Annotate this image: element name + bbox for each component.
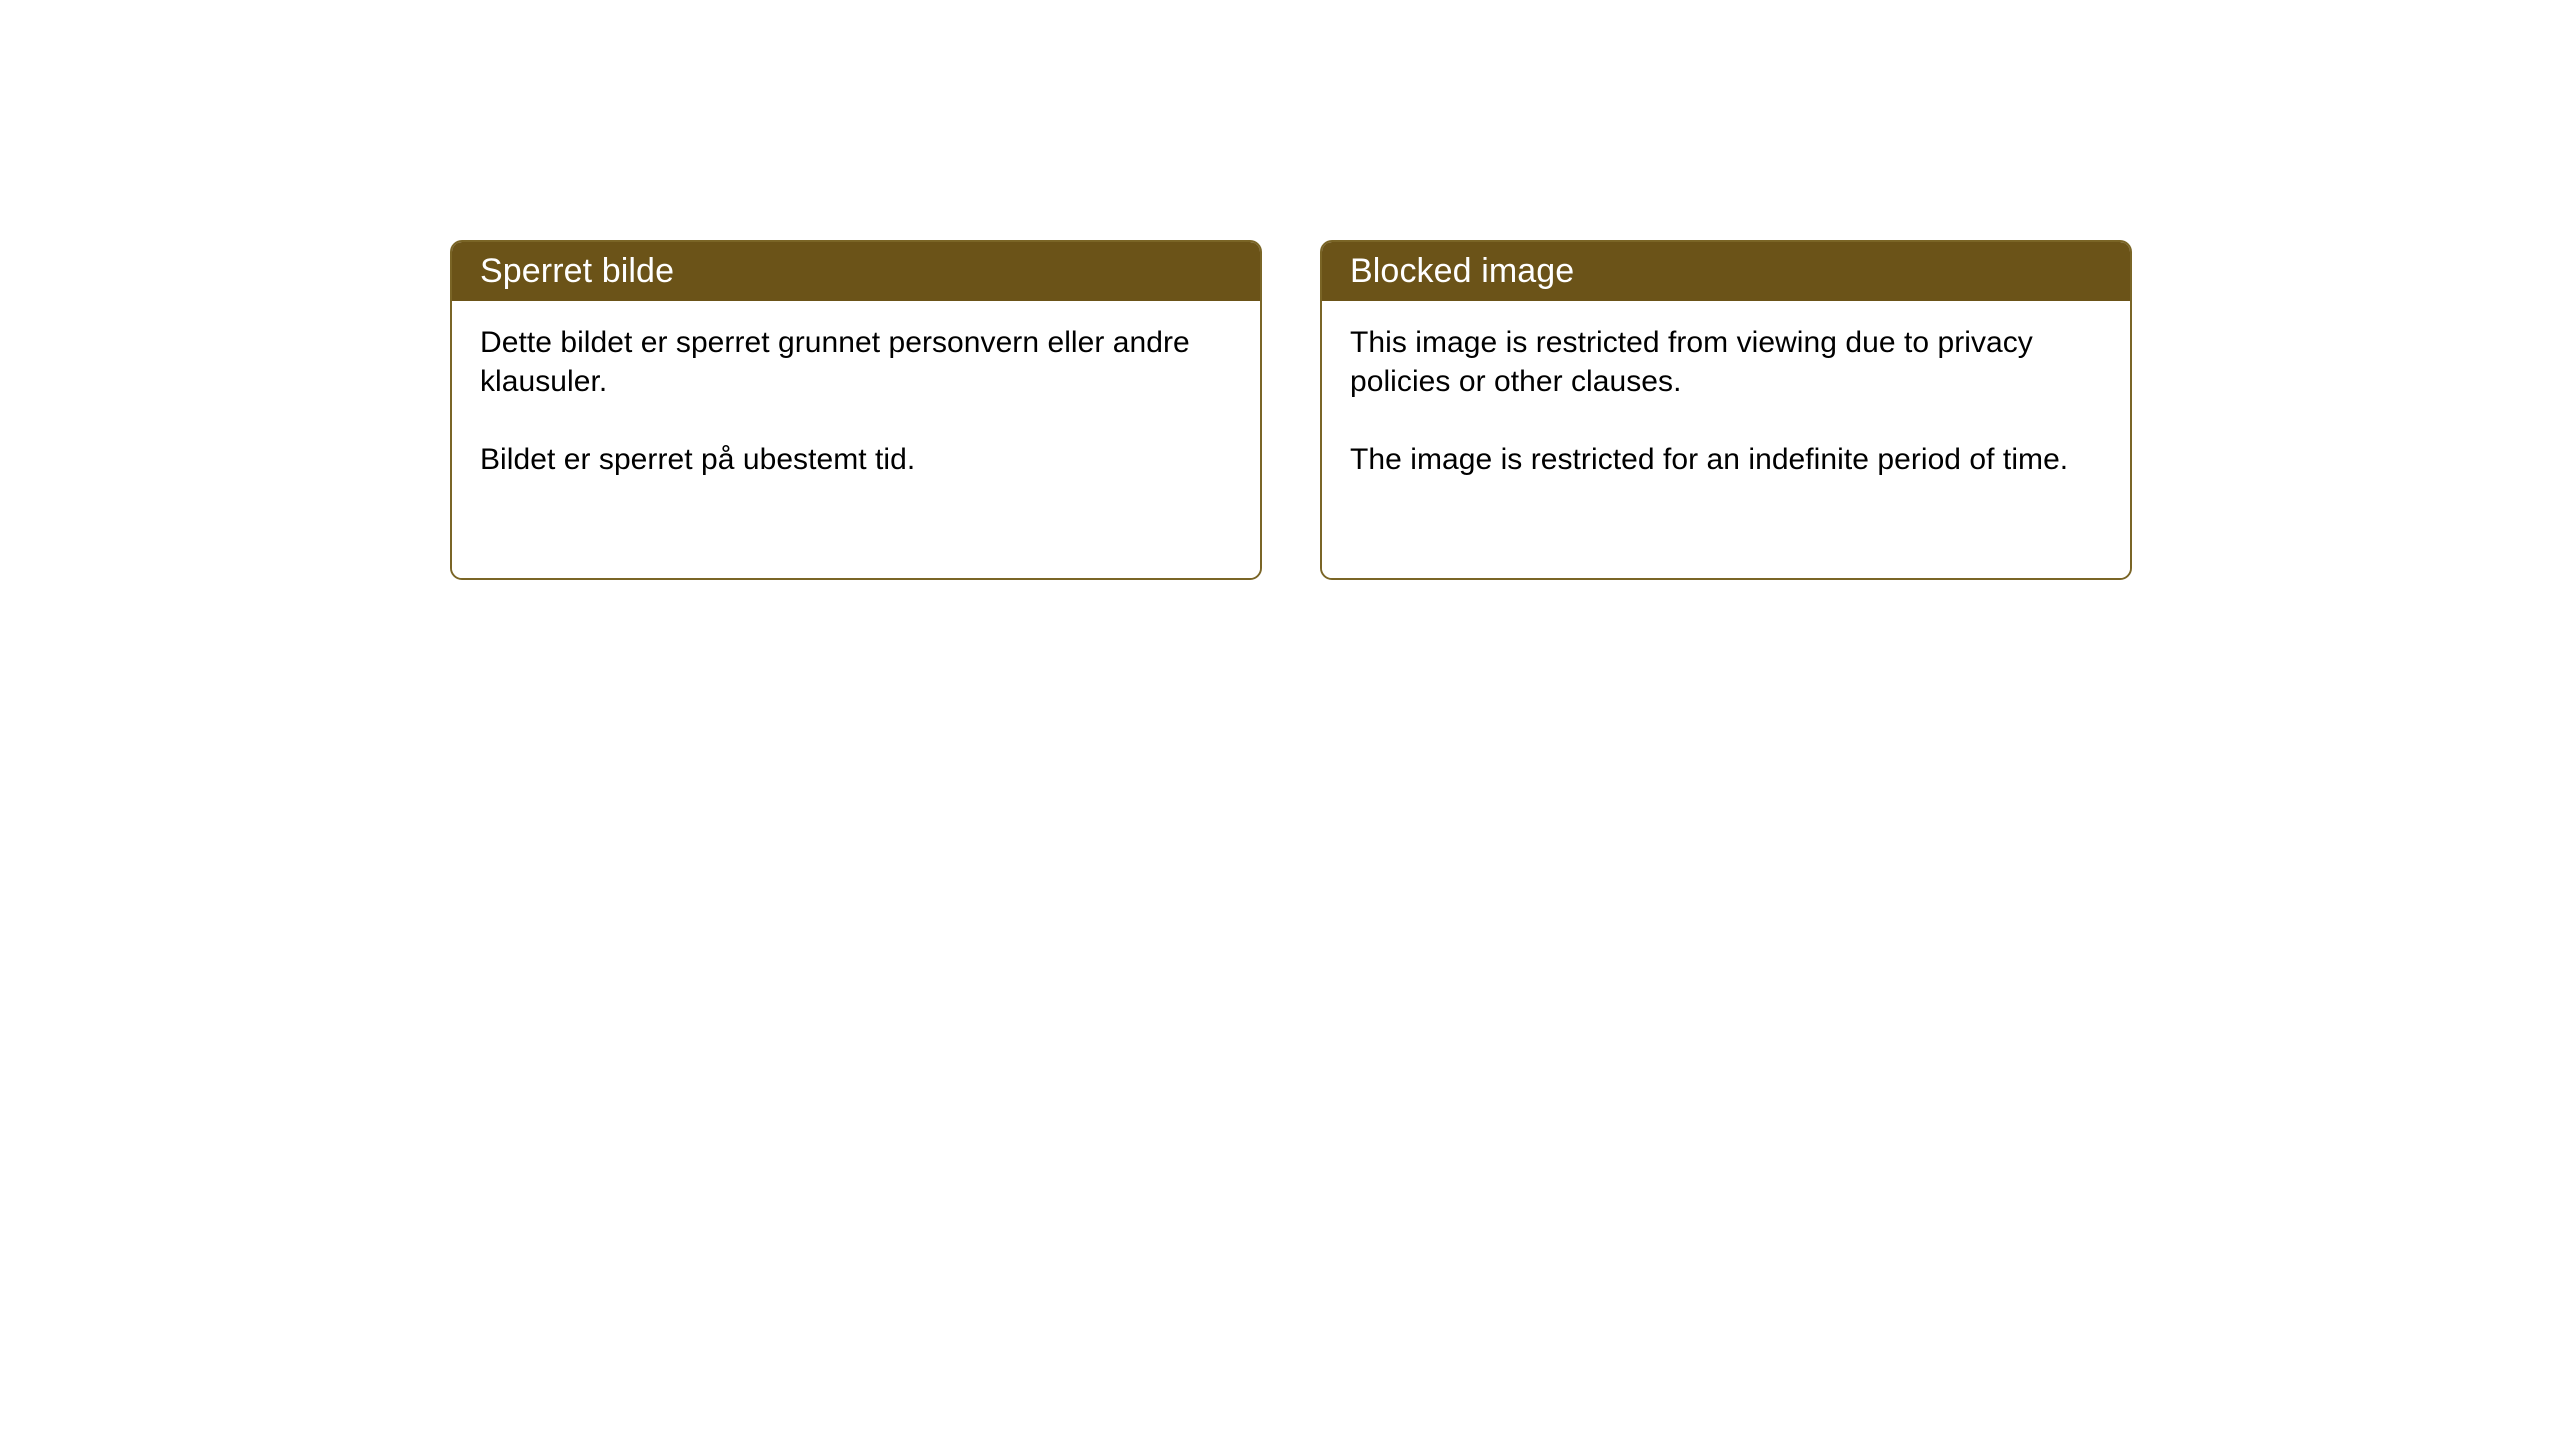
paragraph-spacer bbox=[480, 401, 1234, 440]
blocked-image-card-english: Blocked image This image is restricted f… bbox=[1320, 240, 2132, 580]
blocked-image-notice-area: Sperret bilde Dette bildet er sperret gr… bbox=[450, 240, 2132, 580]
card-body-english: This image is restricted from viewing du… bbox=[1322, 301, 2130, 578]
card-header-english: Blocked image bbox=[1320, 240, 2132, 301]
card-paragraph-primary-norwegian: Dette bildet er sperret grunnet personve… bbox=[480, 323, 1234, 401]
blocked-image-card-norwegian: Sperret bilde Dette bildet er sperret gr… bbox=[450, 240, 1262, 580]
card-paragraph-secondary-english: The image is restricted for an indefinit… bbox=[1350, 440, 2104, 479]
card-paragraph-primary-english: This image is restricted from viewing du… bbox=[1350, 323, 2104, 401]
paragraph-spacer bbox=[1350, 401, 2104, 440]
card-title-english: Blocked image bbox=[1350, 254, 1574, 288]
card-paragraph-secondary-norwegian: Bildet er sperret på ubestemt tid. bbox=[480, 440, 1234, 479]
card-body-norwegian: Dette bildet er sperret grunnet personve… bbox=[452, 301, 1260, 578]
card-title-norwegian: Sperret bilde bbox=[480, 254, 674, 288]
card-header-norwegian: Sperret bilde bbox=[450, 240, 1262, 301]
